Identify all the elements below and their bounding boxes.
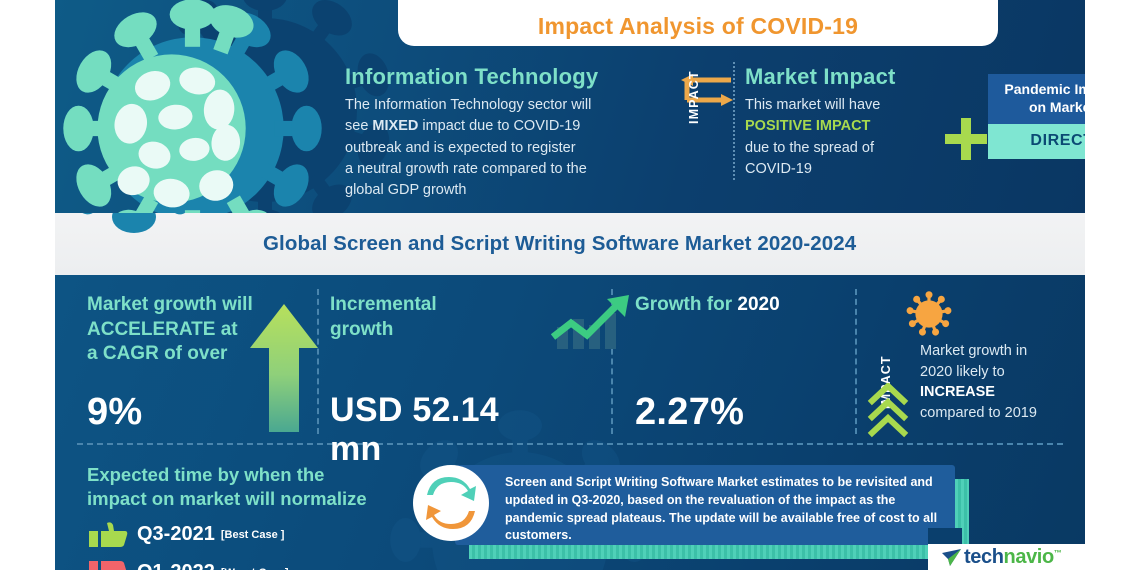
stat-growth-value: 2.27% — [635, 391, 744, 434]
normalize-section: Expected time by when the impact on mark… — [87, 463, 447, 570]
plus-icon — [945, 118, 987, 160]
thumbs-down-icon — [87, 558, 129, 570]
market-title-bar: Global Screen and Script Writing Softwar… — [55, 213, 1085, 275]
logo-part-1: tech — [964, 546, 1004, 568]
impact-axis: IMPACT — [677, 72, 737, 212]
it-line-2-post: impact due to COVID-19 — [418, 118, 580, 134]
right-impact-bold: INCREASE — [920, 384, 995, 400]
it-line-4: a neutral growth rate compared to the — [345, 161, 587, 177]
it-body: The Information Technology sector will s… — [345, 95, 665, 202]
logo-trademark: ™ — [1054, 548, 1062, 557]
logo-part-2: navio — [1004, 546, 1054, 568]
virus-orange-icon — [905, 290, 953, 338]
chevron-up-triple-icon — [867, 383, 909, 441]
stat-growth-2020: Growth for 2020 2.27% — [635, 293, 885, 318]
stat-incremental-growth: Incremental growth USD 52.14 mn — [330, 293, 560, 342]
market-impact-section: Market Impact This market will have POSI… — [745, 64, 940, 180]
it-line-1: The Information Technology sector will — [345, 97, 591, 113]
it-mixed-keyword: MIXED — [372, 118, 418, 134]
technavio-logo: technavio™ — [928, 544, 1140, 570]
it-line-5: global GDP growth — [345, 182, 466, 198]
market-impact-heading: Market Impact — [745, 64, 940, 90]
divider-dotted-left — [733, 62, 735, 180]
virus-spike-decoration — [55, 213, 285, 257]
normalize-line-2: impact on market will normalize — [87, 488, 367, 509]
it-heading: Information Technology — [345, 64, 665, 90]
top-banner: Impact Analysis of COVID-19 Information … — [55, 0, 1085, 213]
badge-value: DIRECT — [988, 124, 1085, 159]
stat-cagr-line-3: a CAGR of over — [87, 343, 227, 364]
impact-vertical-label: IMPACT — [687, 70, 701, 124]
stat-incremental-value: USD 52.14 mn — [330, 391, 560, 469]
mi-line-2: due to the spread of — [745, 140, 874, 156]
poster-title-pill: Impact Analysis of COVID-19 — [398, 0, 998, 46]
stat-growth-prefix: Growth for — [635, 294, 737, 315]
refresh-icon — [413, 465, 489, 541]
normalize-row-worst: Q1-2022 [Worst Case] — [87, 558, 447, 570]
divider-dashed-horizontal — [77, 443, 1063, 445]
normalize-line-1: Expected time by when the — [87, 464, 324, 485]
refresh-icon-circle — [413, 465, 489, 541]
stat-cagr-line-1: Market growth will — [87, 294, 253, 315]
it-line-3: outbreak and is expected to register — [345, 140, 576, 156]
right-impact-line-2: 2020 likely to — [920, 364, 1005, 380]
note-callout: Screen and Script Writing Software Marke… — [455, 465, 975, 560]
note-box: Screen and Script Writing Software Marke… — [455, 465, 955, 545]
stat-incremental-line-1: Incremental — [330, 294, 437, 315]
it-line-2-pre: see — [345, 118, 372, 134]
right-impact-line-1: Market growth in — [920, 343, 1027, 359]
stat-growth-year: 2020 — [737, 294, 779, 315]
up-arrow-icon — [249, 302, 319, 432]
normalize-best-case: [Best Case ] — [221, 529, 285, 541]
note-text: Screen and Script Writing Software Marke… — [505, 475, 937, 542]
stat-cagr-value: 9% — [87, 391, 143, 434]
normalize-best-quarter: Q3-2021 — [137, 523, 215, 546]
technavio-wordmark: technavio™ — [964, 546, 1061, 569]
badge-title-line-2: on Market — [1029, 99, 1085, 115]
right-impact-line-3: compared to 2019 — [920, 405, 1037, 421]
badge-title-line-1: Pandemic Impact — [1004, 81, 1085, 97]
page-title: Impact Analysis of COVID-19 — [538, 13, 858, 40]
normalize-heading: Expected time by when the impact on mark… — [87, 463, 447, 512]
right-impact-text: Market growth in 2020 likely to INCREASE… — [920, 341, 1080, 423]
mi-positive-impact: POSITIVE IMPACT — [745, 118, 870, 134]
mi-line-3: COVID-19 — [745, 161, 812, 177]
technavio-mark-icon — [942, 549, 961, 566]
stats-band: Market growth will ACCELERATE at a CAGR … — [55, 275, 1085, 570]
normalize-row-best: Q3-2021 [Best Case ] — [87, 520, 447, 550]
trend-chart-icon — [547, 293, 633, 353]
mi-line-1: This market will have — [745, 97, 880, 113]
information-technology-section: Information Technology The Information T… — [345, 64, 665, 202]
thumbs-up-icon — [87, 520, 129, 550]
stat-growth-heading: Growth for 2020 — [635, 293, 885, 318]
covid-virus-graphic — [55, 0, 335, 213]
stat-incremental-line-2: growth — [330, 319, 393, 340]
infographic-poster: Impact Analysis of COVID-19 Information … — [0, 0, 1140, 570]
stat-cagr-line-2: ACCELERATE at — [87, 319, 238, 340]
pandemic-impact-badge: Pandemic Impact on Market DIRECT — [988, 74, 1085, 159]
market-impact-body: This market will have POSITIVE IMPACT du… — [745, 95, 940, 180]
badge-title: Pandemic Impact on Market — [988, 74, 1085, 124]
market-title: Global Screen and Script Writing Softwar… — [263, 232, 856, 256]
normalize-worst-quarter: Q1-2022 — [137, 561, 215, 570]
stat-incremental-heading: Incremental growth — [330, 293, 560, 342]
